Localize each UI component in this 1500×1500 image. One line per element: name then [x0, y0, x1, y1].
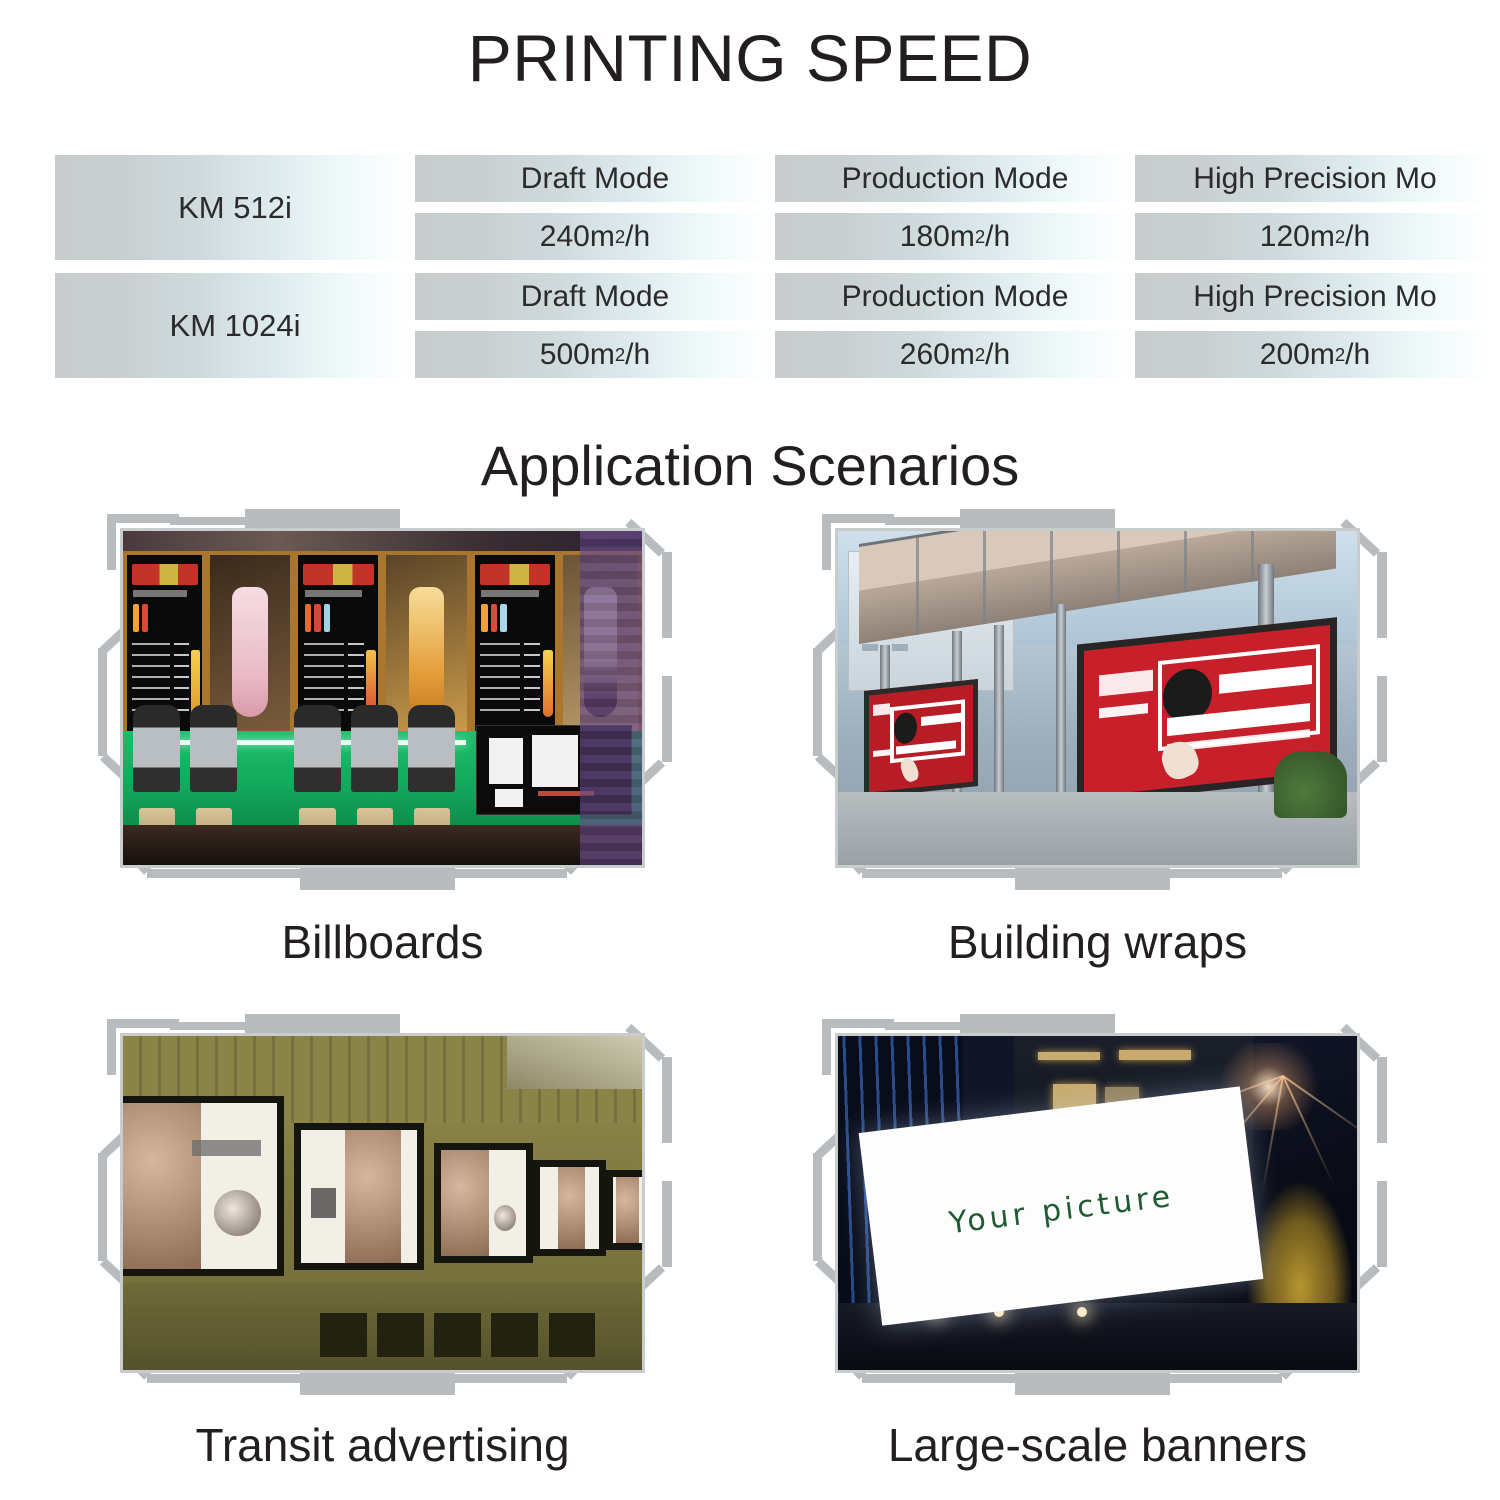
- speed-unit: /h: [985, 220, 1010, 254]
- poster-page: PRINTING SPEED KM 512i Draft Mode Produc…: [0, 0, 1500, 1500]
- speed-number: 180m: [900, 220, 975, 254]
- speed-cell-0-2: 120m2/h: [1135, 213, 1495, 260]
- frame-edge-left-icon: [98, 1153, 107, 1261]
- scenario-photo-transit-advertising: [120, 1033, 645, 1373]
- speed-unit: /h: [1345, 220, 1370, 254]
- mode-cell-1-0: Draft Mode: [415, 273, 775, 320]
- frame-edge-left-icon: [813, 648, 822, 756]
- mode-cell-0-1: Production Mode: [775, 155, 1135, 202]
- frame-edge-left-icon: [98, 648, 107, 756]
- mode-cell-1-2: High Precision Mo: [1135, 273, 1495, 320]
- corner-bracket-top-left-icon: [107, 514, 116, 570]
- scenario-caption: Transit advertising: [95, 1418, 670, 1472]
- corner-bracket-top-left-icon: [822, 1019, 894, 1028]
- scenario-card-large-scale-banners: Your picture Large-scale banners: [810, 1005, 1410, 1500]
- speed-number: 500m: [540, 338, 615, 372]
- speed-number: 260m: [900, 338, 975, 372]
- photo-content: [123, 1036, 642, 1370]
- photo-content: [123, 531, 642, 865]
- speed-number: 200m: [1260, 338, 1335, 372]
- speed-number: 120m: [1260, 220, 1335, 254]
- scenario-card-building-wraps: Building wraps: [810, 500, 1410, 1000]
- frame-edge-right-top-icon: [1377, 552, 1387, 638]
- frame-edge-right-bottom-icon: [662, 676, 672, 762]
- scenario-card-transit-advertising: Transit advertising: [95, 1005, 695, 1500]
- scenario-photo-billboards: [120, 528, 645, 868]
- speed-number: 240m: [540, 220, 615, 254]
- scenario-caption: Building wraps: [810, 915, 1385, 969]
- photo-frame: [810, 500, 1385, 900]
- frame-edge-left-icon: [813, 1153, 822, 1261]
- mode-cell-1-1: Production Mode: [775, 273, 1135, 320]
- photo-frame: [95, 1005, 670, 1405]
- speed-unit: /h: [985, 338, 1010, 372]
- corner-bracket-top-left-icon: [107, 1019, 116, 1075]
- speed-cell-0-0: 240m2/h: [415, 213, 775, 260]
- table-row-model-1: KM 1024i: [55, 273, 415, 378]
- corner-bracket-top-left-icon: [822, 1019, 831, 1075]
- frame-edge-right-bottom-icon: [1377, 676, 1387, 762]
- scenario-caption: Large-scale banners: [810, 1418, 1385, 1472]
- frame-edge-right-top-icon: [662, 552, 672, 638]
- speed-cell-1-0: 500m2/h: [415, 331, 775, 378]
- frame-edge-right-bottom-icon: [662, 1181, 672, 1267]
- scenario-caption: Billboards: [95, 915, 670, 969]
- speed-cell-0-1: 180m2/h: [775, 213, 1135, 260]
- speed-unit: /h: [1345, 338, 1370, 372]
- table-row-model-0: KM 512i: [55, 155, 415, 260]
- frame-edge-right-top-icon: [1377, 1057, 1387, 1143]
- frame-tab-stub-icon: [885, 1022, 965, 1030]
- photo-frame: [95, 500, 670, 900]
- scenario-card-billboards: Billboards: [95, 500, 695, 1000]
- corner-bracket-top-left-icon: [822, 514, 894, 523]
- mode-cell-0-0: Draft Mode: [415, 155, 775, 202]
- corner-bracket-top-left-icon: [107, 514, 179, 523]
- scenario-photo-large-scale-banners: Your picture: [835, 1033, 1360, 1373]
- speed-cell-1-1: 260m2/h: [775, 331, 1135, 378]
- photo-content: Your picture: [838, 1036, 1357, 1370]
- speed-unit: /h: [625, 338, 650, 372]
- frame-tab-stub-icon: [170, 517, 250, 525]
- printing-speed-table: KM 512i Draft Mode Production Mode High …: [55, 155, 1447, 375]
- page-title: PRINTING SPEED: [0, 20, 1500, 96]
- frame-edge-right-top-icon: [662, 1057, 672, 1143]
- section-title: Application Scenarios: [0, 433, 1500, 498]
- billboard-mock-text: Your picture: [947, 1179, 1176, 1241]
- frame-tab-stub-icon: [170, 1022, 250, 1030]
- mode-cell-0-2: High Precision Mo: [1135, 155, 1495, 202]
- corner-bracket-top-left-icon: [107, 1019, 179, 1028]
- scenario-photo-building-wraps: [835, 528, 1360, 868]
- speed-unit: /h: [625, 220, 650, 254]
- corner-bracket-top-left-icon: [822, 514, 831, 570]
- speed-cell-1-2: 200m2/h: [1135, 331, 1495, 378]
- frame-tab-stub-icon: [885, 517, 965, 525]
- frame-edge-right-bottom-icon: [1377, 1181, 1387, 1267]
- photo-frame: Your picture: [810, 1005, 1385, 1405]
- photo-content: [838, 531, 1357, 865]
